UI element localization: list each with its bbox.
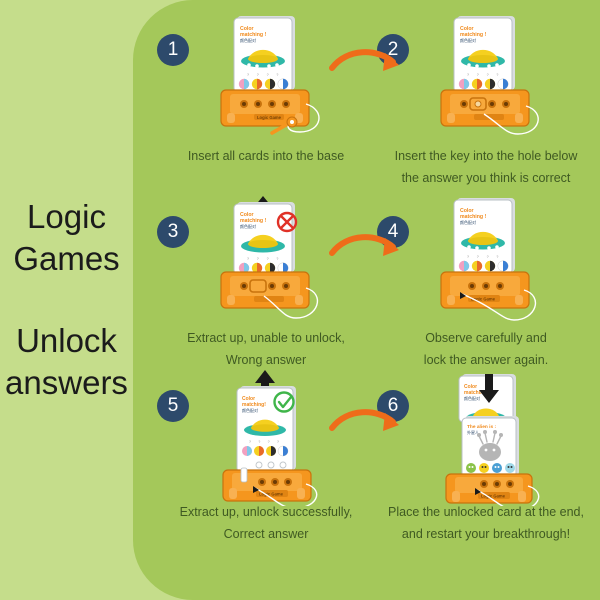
step-4: 4 Color matching ! 颜色配对 ? ? ? ? [373,196,599,372]
step-1-badge: 1 [157,34,189,66]
svg-text:Logic Game: Logic Game [471,297,496,302]
step-4-caption: Observe carefully and lock the answer ag… [373,328,599,372]
step-3: 3 Color matching ! 颜色配对 [153,196,379,372]
svg-text:颜色配对: 颜色配对 [460,37,476,43]
step-5-caption-line-2: Correct answer [153,524,379,546]
game-base [441,90,529,126]
step-1-caption: Insert all cards into the base [153,146,379,168]
step-1: 1 Color matching ! 颜色配对 [153,14,379,168]
step-2-caption: Insert the key into the hole below the a… [373,146,599,190]
step-5-badge: 5 [157,390,189,422]
step-5-illustration: Color matching! 颜色配对 ? ? ? ? [200,370,332,498]
svg-text:颜色配对: 颜色配对 [242,407,258,413]
step-4-illustration: Color matching ! 颜色配对 ? ? ? ? [420,196,552,324]
step-6-caption: Place the unlocked card at the end, and … [373,502,599,546]
step-2-illustration: Color matching ! 颜色配对 ? ? ? ? [420,14,552,142]
svg-text:颜色配对: 颜色配对 [460,219,476,225]
instruction-poster: Logic Games Unlock answers 1 Color match… [0,0,600,600]
svg-text:? ? ? ?: ? ? ? ? [249,440,282,444]
headline-column: Logic Games Unlock answers [0,0,133,600]
card-color-matching: Color matching! 颜色配对 ? ? ? ? [237,386,296,472]
headline-line-3: Unlock [16,320,117,362]
card-color-matching: Color matching ! 颜色配对 ? ? ? ? [454,16,515,92]
svg-text:? ? ? ?: ? ? ? ? [247,73,282,77]
step-3-caption-line-2: Wrong answer [153,350,379,372]
step-1-caption-line-1: Insert all cards into the base [188,149,344,163]
step-3-caption: Extract up, unable to unlock, Wrong answ… [153,328,379,372]
step-6: 6 Color matching! 颜色配对 [373,370,599,546]
svg-text:颜色配对: 颜色配对 [464,395,480,401]
card-alien: The alien is : 外星人 [462,416,519,478]
headline-line-1: Logic [27,196,106,238]
svg-text:Logic Game: Logic Game [257,115,282,120]
step-6-badge: 6 [377,390,409,422]
step-6-illustration: Color matching! 颜色配对 The alien is : [420,370,552,498]
step-2-badge: 2 [377,34,409,66]
svg-text:? ? ? ?: ? ? ? ? [247,257,282,261]
step-3-caption-line-1: Extract up, unable to unlock, [153,328,379,350]
game-base: Logic Game [446,474,532,503]
svg-text:颜色配对: 颜色配对 [240,223,256,229]
svg-text:? ? ? ?: ? ? ? ? [467,255,502,259]
svg-text:? ? ? ?: ? ? ? ? [467,73,502,77]
game-base [221,272,309,308]
card-color-matching: Color matching ! 颜色配对 ? ? ? ? [234,16,295,92]
step-4-caption-line-1: Observe carefully and [373,328,599,350]
step-2: 2 Color matching ! 颜色配对 ? ? ? ? [373,14,599,190]
steps-grid: 1 Color matching ! 颜色配对 [133,0,600,600]
step-3-illustration: Color matching ! 颜色配对 ? ? ? ? [200,196,332,324]
game-base: Logic Game [223,468,311,501]
step-3-badge: 3 [157,216,189,248]
headline-line-2: Games [13,238,119,280]
step-1-illustration: Color matching ! 颜色配对 ? ? ? ? [200,14,332,142]
step-2-caption-line-2: the answer you think is correct [373,168,599,190]
step-6-caption-line-2: and restart your breakthrough! [373,524,599,546]
svg-text:外星人: 外星人 [467,429,479,435]
card-color-matching: Color matching ! 颜色配对 ? ? ? ? [454,198,515,274]
step-4-badge: 4 [377,216,409,248]
headline-line-4: answers [5,362,128,404]
step-4-caption-line-2: lock the answer again. [373,350,599,372]
game-base: Logic Game [441,272,529,308]
step-5-caption: Extract up, unlock successfully, Correct… [153,502,379,546]
step-5: 5 Color matching! 颜色配对 ? [153,370,379,546]
svg-text:颜色配对: 颜色配对 [240,37,256,43]
step-2-caption-line-1: Insert the key into the hole below [373,146,599,168]
